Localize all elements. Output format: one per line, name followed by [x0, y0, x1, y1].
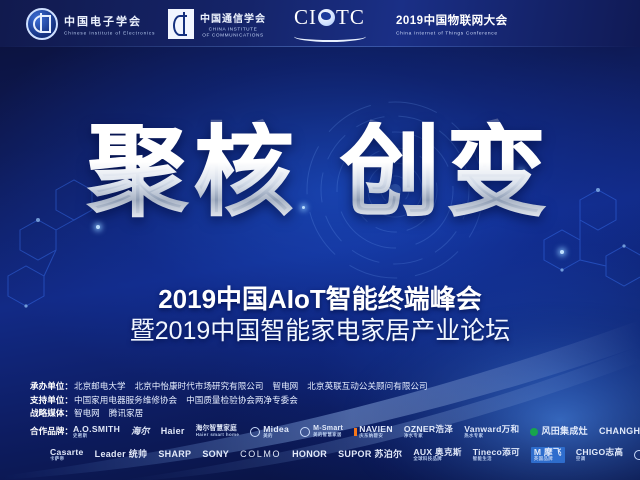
brand-logo-m-smart: M-Smart美的智慧家居: [300, 425, 343, 437]
cie-name-cn: 中国电子学会: [64, 13, 142, 29]
credit-values: 中国家用电器服务维修协会中国质量检验协会两净专委会: [74, 394, 307, 408]
brand-sub: 史密斯: [73, 434, 120, 438]
brand-logo-changhong: CHANGHONG 长虹: [599, 425, 640, 439]
brand-name: 海尔智慧家庭: [196, 426, 240, 433]
brand-logo-tineco: Tineco添可智能生活: [473, 448, 520, 462]
brand-name: A.O.SMITH: [73, 425, 120, 434]
credit-values: 智电网腾讯家居: [74, 407, 152, 421]
brand-sub: 卡萨帝: [50, 457, 84, 461]
credits-block: 承办单位： 北京邮电大学北京中怡康时代市场研究有限公司智电网北京英联互动公关顾问…: [30, 380, 630, 463]
brand-logo-ozner: OZNER浩泽净水专家: [404, 425, 453, 439]
credit-label: 支持单位：: [30, 394, 73, 408]
credit-value: 北京中怡康时代市场研究有限公司: [135, 381, 264, 391]
brand-logo-ao-smith: A.O.SMITH史密斯: [73, 425, 120, 439]
brand-logo-haier-cn: 海尔: [131, 425, 150, 439]
credit-value: 智电网: [74, 408, 100, 418]
credit-value: 中国质量检验协会两净专委会: [186, 395, 298, 405]
credit-label: 合作品牌：: [30, 425, 73, 439]
credit-label: 战略媒体：: [30, 407, 73, 421]
brand-sub: 美的智慧家居: [313, 433, 343, 437]
credit-values: 北京邮电大学北京中怡康时代市场研究有限公司智电网北京英联互动公关顾问有限公司: [74, 380, 437, 394]
brand-sub: 美的: [263, 434, 289, 438]
brand-sub: 全球科技品牌: [413, 457, 461, 461]
brand-logo-sony: SONY: [202, 448, 229, 462]
credit-value: 中国家用电器服务维修协会: [74, 395, 177, 405]
brand-logo-fengtian: 风田集成灶: [530, 425, 588, 439]
brand-name: Vanward万和: [464, 425, 519, 434]
brand-name: Tineco添可: [473, 448, 520, 457]
credit-row-organizers: 承办单位： 北京邮电大学北京中怡康时代市场研究有限公司智电网北京英联互动公关顾问…: [30, 380, 630, 394]
brand-logo-sharp: SHARP: [158, 448, 191, 462]
globe-icon: [318, 9, 335, 26]
logo-conference-title: 2019中国物联网大会 China Internet of Things Con…: [396, 0, 508, 47]
credit-value: 腾讯家居: [109, 408, 143, 418]
brand-logo-vanward: Vanward万和热水专家: [464, 425, 519, 439]
m-smart-mark-icon: [300, 427, 310, 437]
cie-emblem-icon: [26, 8, 58, 40]
brand-sub: 空调: [576, 457, 623, 461]
chigo-mark-icon: [634, 450, 640, 460]
credit-value: 北京英联互动公关顾问有限公司: [307, 381, 427, 391]
credit-value: 北京邮电大学: [74, 381, 126, 391]
brand-logo-casarte: Casarte卡萨帝: [50, 448, 84, 462]
brand-name: Casarte: [50, 448, 84, 457]
cic-name-cn: 中国通信学会: [200, 10, 266, 25]
logo-citc: CI TC: [294, 0, 366, 47]
poster-main-title: 聚核 创变: [0, 122, 640, 222]
brand-logo-morphy: M 摩飞英国品牌: [531, 447, 565, 463]
brand-name: M 摩飞: [534, 448, 562, 457]
brand-name: Midea: [263, 425, 289, 434]
credit-label: 承办单位：: [30, 380, 73, 394]
logo-chinese-institute-of-electronics: 中国电子学会 Chinese Institute of Electronics: [26, 0, 142, 47]
brand-name: 风田集成灶: [541, 425, 588, 439]
citc-arc-decoration: [294, 31, 366, 42]
brand-name: NAVIEN: [359, 425, 393, 434]
brand-sub: 智能生活: [473, 457, 520, 461]
credit-row-brands: 合作品牌： A.O.SMITH史密斯 海尔 Haier 海尔智慧家庭Haier …: [30, 425, 630, 439]
conference-name-en: China Internet of Things Conference: [396, 30, 547, 35]
glow-dot: [560, 250, 564, 254]
logo-china-institute-of-communications: 中国通信学会 CHINA INSTITUTE OF COMMUNICATIONS: [168, 0, 266, 47]
conference-name-cn: 2019中国物联网大会: [396, 12, 508, 28]
cic-name-en-line2: OF COMMUNICATIONS: [187, 32, 279, 38]
citc-text-right: TC: [336, 5, 365, 30]
poster-canvas: 中国电子学会 Chinese Institute of Electronics …: [0, 0, 640, 480]
brand-name: AUX 奥克斯: [413, 448, 461, 457]
credit-row-supporters: 支持单位： 中国家用电器服务维修协会中国质量检验协会两净专委会: [30, 394, 630, 408]
fengtian-mark-icon: [530, 428, 538, 436]
brand-name: CHIGO志高: [576, 448, 623, 457]
credit-row-media: 战略媒体： 智电网腾讯家居: [30, 407, 630, 421]
brand-name: OZNER浩泽: [404, 425, 453, 434]
cie-name-en: Chinese Institute of Electronics: [64, 30, 177, 36]
brand-sub: Haier smart home: [196, 433, 240, 437]
navien-bar-icon: [354, 428, 357, 436]
credit-value: 智电网: [272, 381, 298, 391]
brand-sub: 英国品牌: [534, 457, 562, 461]
brand-logo-aux: AUX 奥克斯全球科技品牌: [413, 448, 461, 462]
brand-logo-honor: HONOR: [292, 448, 327, 462]
brand-sub: 庆东纳碧安: [359, 434, 393, 438]
citc-text-left: CI: [294, 5, 317, 30]
brand-row-secondary: Casarte卡萨帝 Leader 统帅 SHARP SONY COLMO HO…: [50, 447, 630, 463]
brand-logo-supor: SUPOR 苏泊尔: [338, 448, 402, 462]
brand-logo-haier-smart-home: 海尔智慧家庭Haier smart home: [196, 426, 240, 438]
brand-logo-leader: Leader 统帅: [95, 448, 148, 462]
header-logo-bar: 中国电子学会 Chinese Institute of Electronics …: [0, 0, 640, 47]
brand-sub: 热水专家: [464, 434, 519, 438]
poster-subtitle-secondary: 暨2019中国智能家电家居产业论坛: [0, 311, 640, 347]
brand-sub: 净水专家: [404, 434, 453, 438]
brand-logo-chigo-smart: 志高智能: [634, 448, 640, 462]
cic-name-en-line1: CHINA INSTITUTE: [187, 26, 279, 32]
brand-logo-colmo: COLMO: [240, 448, 281, 462]
brand-logo-navien: NAVIEN庆东纳碧安: [354, 425, 393, 439]
midea-mark-icon: [250, 427, 260, 437]
brand-logo-chigo: CHIGO志高空调: [576, 448, 623, 462]
brand-logo-haier: Haier: [161, 425, 185, 439]
brand-logo-midea: Midea美的: [250, 425, 289, 439]
